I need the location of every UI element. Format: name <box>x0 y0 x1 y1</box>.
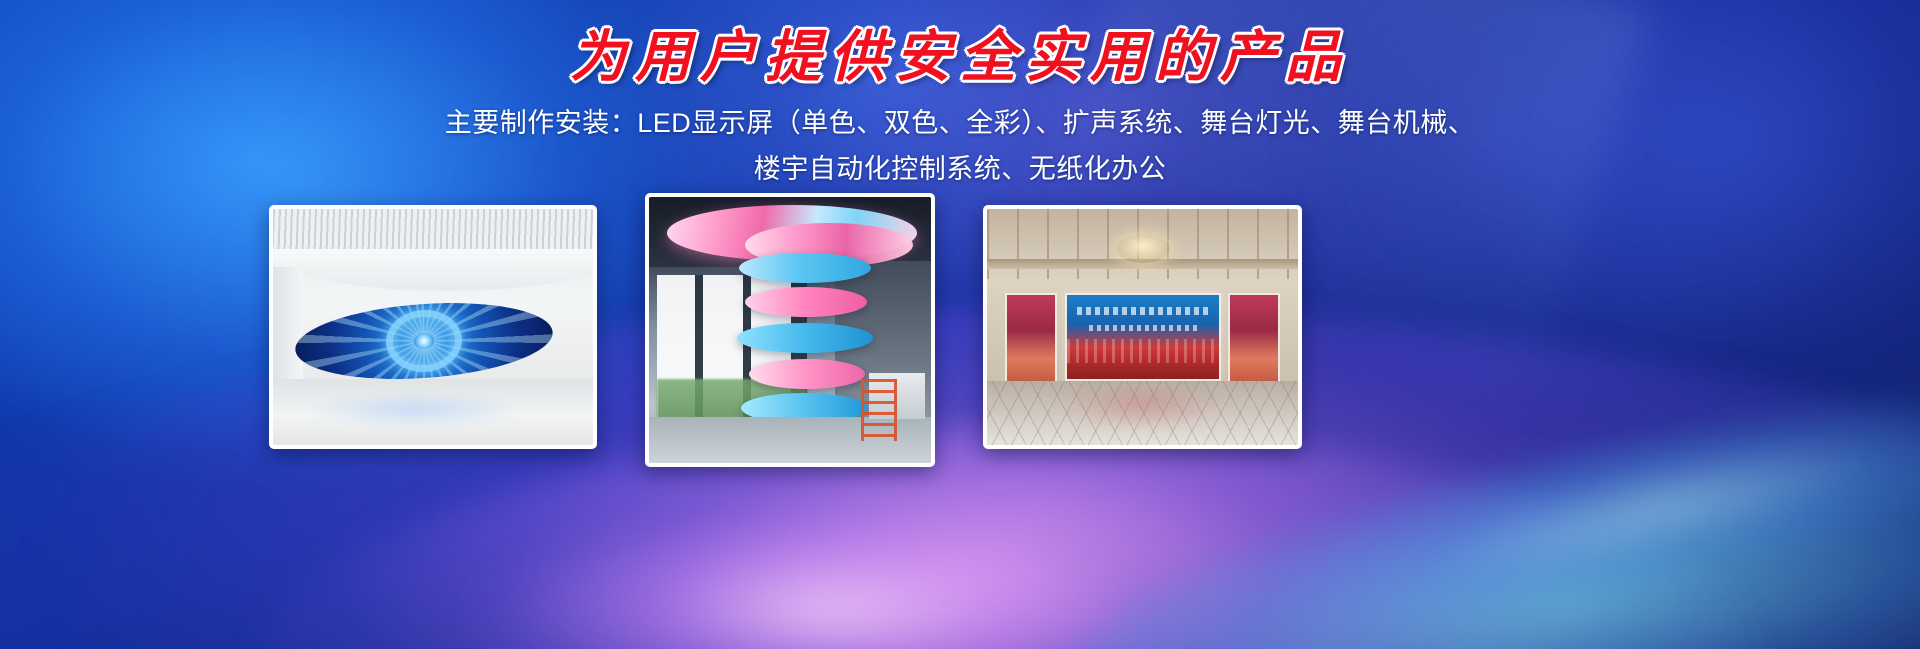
ribbon-band-3 <box>737 323 873 353</box>
photo-gallery <box>0 0 1920 649</box>
ribbon-band-4 <box>749 359 865 389</box>
screen-title-text <box>1077 307 1209 315</box>
ribbon-band-1 <box>739 253 871 283</box>
main-led-screen <box>1065 293 1221 381</box>
side-led-panel-left <box>1005 293 1057 385</box>
photo-card-eye-led-display[interactable] <box>269 205 597 449</box>
ribbon-band-2 <box>745 287 867 317</box>
photo-image-banquet-led-stage <box>987 209 1298 445</box>
screen-skyline-graphic <box>1067 339 1219 363</box>
floor-reflection <box>1057 387 1227 431</box>
chandelier-light <box>1116 235 1170 263</box>
photo-image-spiral-led-ribbon <box>649 197 931 463</box>
step-ladder <box>861 379 897 441</box>
photo-card-banquet-led-stage[interactable] <box>983 205 1302 449</box>
side-led-panel-right <box>1228 293 1280 385</box>
left-wall <box>273 267 303 397</box>
screen-subtitle-text <box>1089 325 1197 331</box>
floor-reflection <box>309 393 519 427</box>
promo-banner: 为用户提供安全实用的产品 主要制作安装：LED显示屏（单色、双色、全彩）、扩声系… <box>0 0 1920 649</box>
photo-image-eye-led-display <box>273 209 593 445</box>
eye-led-screen <box>293 295 556 387</box>
photo-card-spiral-led-ribbon[interactable] <box>645 193 935 467</box>
ceiling-curve <box>273 249 593 291</box>
